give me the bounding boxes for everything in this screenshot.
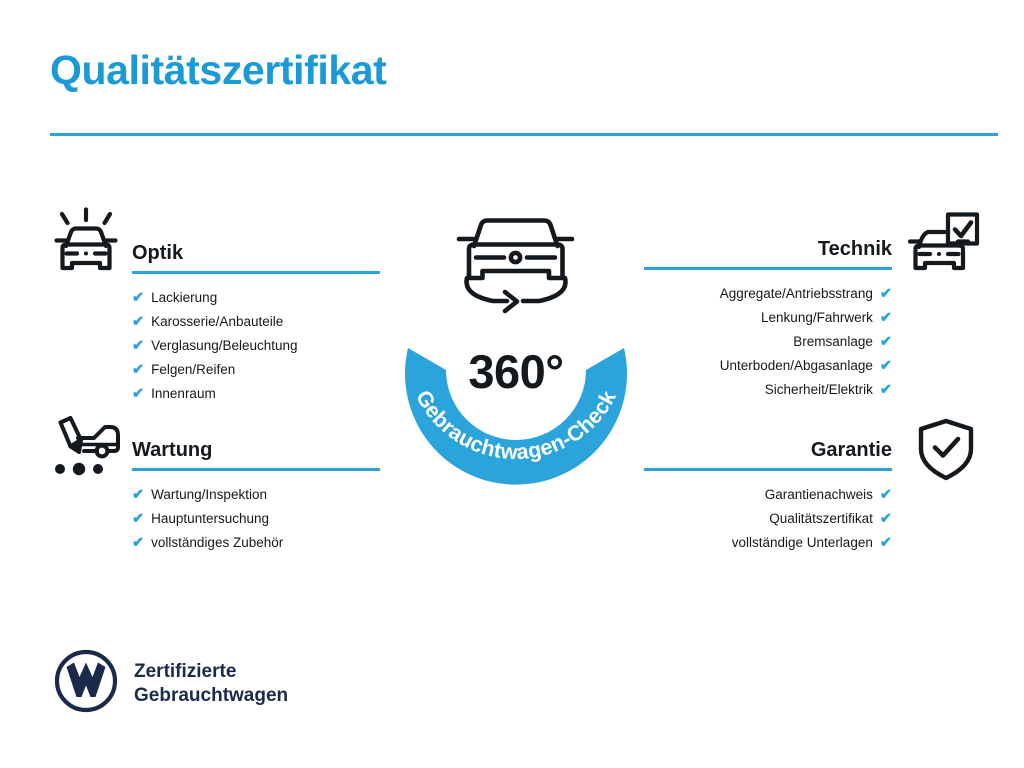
section-garantie-divider — [644, 468, 892, 471]
list-item-label: Unterboden/Abgasanlage — [720, 354, 873, 378]
section-optik-header: Optik — [132, 240, 380, 274]
vw-footer-logo: Zertifizierte Gebrauchtwagen — [54, 649, 288, 718]
section-technik-title: Technik — [644, 236, 892, 262]
list-item: Qualitätszertifikat✔ — [644, 507, 892, 531]
check-icon: ✔ — [132, 334, 144, 358]
list-item-label: Lackierung — [151, 286, 217, 310]
check-icon: ✔ — [880, 378, 892, 402]
list-item: ✔Wartung/Inspektion — [132, 483, 380, 507]
list-item-label: Felgen/Reifen — [151, 358, 235, 382]
list-item-label: Aggregate/Antriebsstrang — [720, 282, 873, 306]
section-garantie-header: Garantie — [644, 437, 892, 471]
list-item-label: Garantienachweis — [765, 483, 873, 507]
list-item: Lenkung/Fahrwerk✔ — [644, 306, 892, 330]
list-item-label: vollständige Unterlagen — [732, 531, 873, 555]
list-item-label: Lenkung/Fahrwerk — [761, 306, 873, 330]
section-garantie: Garantie Garantienachweis✔ Qualitätszert… — [644, 437, 892, 555]
section-technik: Technik Aggregate/Antriebsstrang✔ Lenkun… — [644, 236, 892, 402]
list-item-label: Qualitätszertifikat — [769, 507, 873, 531]
title-divider — [50, 133, 998, 136]
list-item: Aggregate/Antriebsstrang✔ — [644, 282, 892, 306]
check-icon: ✔ — [880, 354, 892, 378]
list-item-label: Innenraum — [151, 382, 216, 406]
certificate-page: Qualitätszertifikat Optik ✔Lackierung ✔K… — [0, 0, 1024, 768]
list-item: Garantienachweis✔ — [644, 483, 892, 507]
check-icon: ✔ — [132, 382, 144, 406]
section-wartung: Wartung ✔Wartung/Inspektion ✔Hauptunters… — [132, 437, 380, 555]
list-item-label: Verglasung/Beleuchtung — [151, 334, 297, 358]
list-item: ✔Lackierung — [132, 286, 380, 310]
list-item: ✔Hauptuntersuchung — [132, 507, 380, 531]
list-item: ✔Karosserie/Anbauteile — [132, 310, 380, 334]
list-item-label: Hauptuntersuchung — [151, 507, 269, 531]
section-wartung-title: Wartung — [132, 437, 380, 463]
car-rotate-icon — [459, 221, 572, 312]
list-item: ✔Verglasung/Beleuchtung — [132, 334, 380, 358]
section-wartung-divider — [132, 468, 380, 471]
check-icon: ✔ — [880, 330, 892, 354]
list-item: ✔Innenraum — [132, 382, 380, 406]
check-icon: ✔ — [132, 531, 144, 555]
list-item: ✔vollständiges Zubehör — [132, 531, 380, 555]
section-garantie-title: Garantie — [644, 437, 892, 463]
check-icon: ✔ — [132, 358, 144, 382]
section-technik-divider — [644, 267, 892, 270]
check-icon: ✔ — [880, 483, 892, 507]
check-icon: ✔ — [132, 310, 144, 334]
car-shine-icon — [48, 206, 124, 287]
list-item: ✔Felgen/Reifen — [132, 358, 380, 382]
section-garantie-list: Garantienachweis✔ Qualitätszertifikat✔ v… — [644, 483, 892, 555]
vw-logo-line1: Zertifizierte — [134, 660, 288, 684]
list-item: Unterboden/Abgasanlage✔ — [644, 354, 892, 378]
check-icon: ✔ — [132, 286, 144, 310]
list-item: vollständige Unterlagen✔ — [644, 531, 892, 555]
list-item-label: vollständiges Zubehör — [151, 531, 283, 555]
check-icon: ✔ — [880, 507, 892, 531]
badge-360-check: Gebrauchtwagen-Check — [372, 196, 660, 496]
car-checkbox-icon — [908, 212, 980, 283]
check-icon: ✔ — [880, 531, 892, 555]
list-item: Sicherheit/Elektrik✔ — [644, 378, 892, 402]
section-optik-title: Optik — [132, 240, 380, 266]
section-technik-list: Aggregate/Antriebsstrang✔ Lenkung/Fahrwe… — [644, 282, 892, 402]
section-wartung-header: Wartung — [132, 437, 380, 471]
vw-logo-line2: Gebrauchtwagen — [134, 684, 288, 708]
shield-check-icon — [916, 418, 976, 487]
vw-logo-text: Zertifizierte Gebrauchtwagen — [134, 660, 288, 708]
page-title: Qualitätszertifikat — [50, 48, 386, 93]
list-item-label: Bremsanlage — [793, 330, 873, 354]
section-technik-header: Technik — [644, 236, 892, 270]
section-optik: Optik ✔Lackierung ✔Karosserie/Anbauteile… — [132, 240, 380, 406]
car-service-pencil-icon — [48, 416, 122, 485]
check-icon: ✔ — [880, 282, 892, 306]
section-optik-list: ✔Lackierung ✔Karosserie/Anbauteile ✔Verg… — [132, 286, 380, 406]
check-icon: ✔ — [132, 483, 144, 507]
list-item-label: Wartung/Inspektion — [151, 483, 267, 507]
vw-logo — [54, 649, 118, 718]
section-optik-divider — [132, 271, 380, 274]
list-item-label: Karosserie/Anbauteile — [151, 310, 283, 334]
check-icon: ✔ — [880, 306, 892, 330]
badge-center-label: 360° — [372, 344, 660, 399]
section-wartung-list: ✔Wartung/Inspektion ✔Hauptuntersuchung ✔… — [132, 483, 380, 555]
list-item-label: Sicherheit/Elektrik — [765, 378, 873, 402]
list-item: Bremsanlage✔ — [644, 330, 892, 354]
check-icon: ✔ — [132, 507, 144, 531]
